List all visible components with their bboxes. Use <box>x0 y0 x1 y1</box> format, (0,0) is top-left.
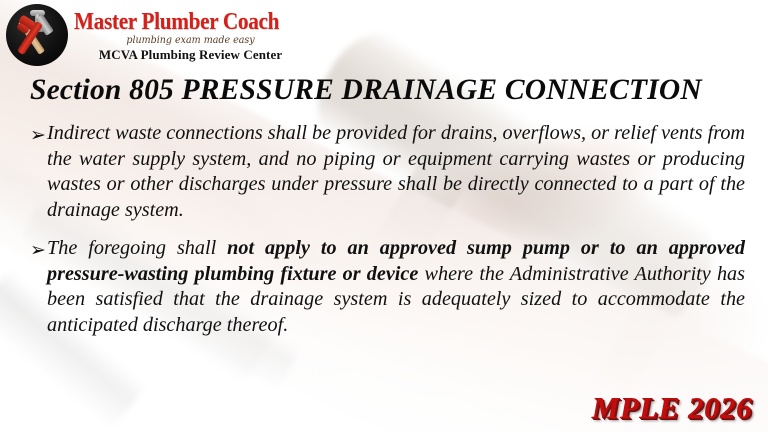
list-item-text: The foregoing shall not apply to an appr… <box>47 236 745 338</box>
page-title: Section 805 PRESSURE DRAINAGE CONNECTION <box>30 74 742 107</box>
list-item: ➢ Indirect waste connections shall be pr… <box>30 121 745 223</box>
brand-subtitle: MCVA Plumbing Review Center <box>74 48 307 61</box>
brand-name: Master Plumber Coach <box>74 10 279 34</box>
slide-canvas: Master Plumber Coach plumbing exam made … <box>0 0 768 432</box>
plumbing-tools-emblem-icon <box>6 4 68 66</box>
list-item-text: Indirect waste connections shall be prov… <box>47 121 745 223</box>
body-content: ➢ Indirect waste connections shall be pr… <box>30 121 745 351</box>
arrow-bullet-icon: ➢ <box>30 237 47 263</box>
brand-logo: Master Plumber Coach plumbing exam made … <box>6 2 306 68</box>
brand-text-lockup: Master Plumber Coach plumbing exam made … <box>74 10 307 61</box>
list-item: ➢ The foregoing shall not apply to an ap… <box>30 236 745 338</box>
brand-tagline: plumbing exam made easy <box>80 36 301 46</box>
exam-year-mark: MPLE 2026 <box>592 390 752 426</box>
arrow-bullet-icon: ➢ <box>30 122 47 148</box>
